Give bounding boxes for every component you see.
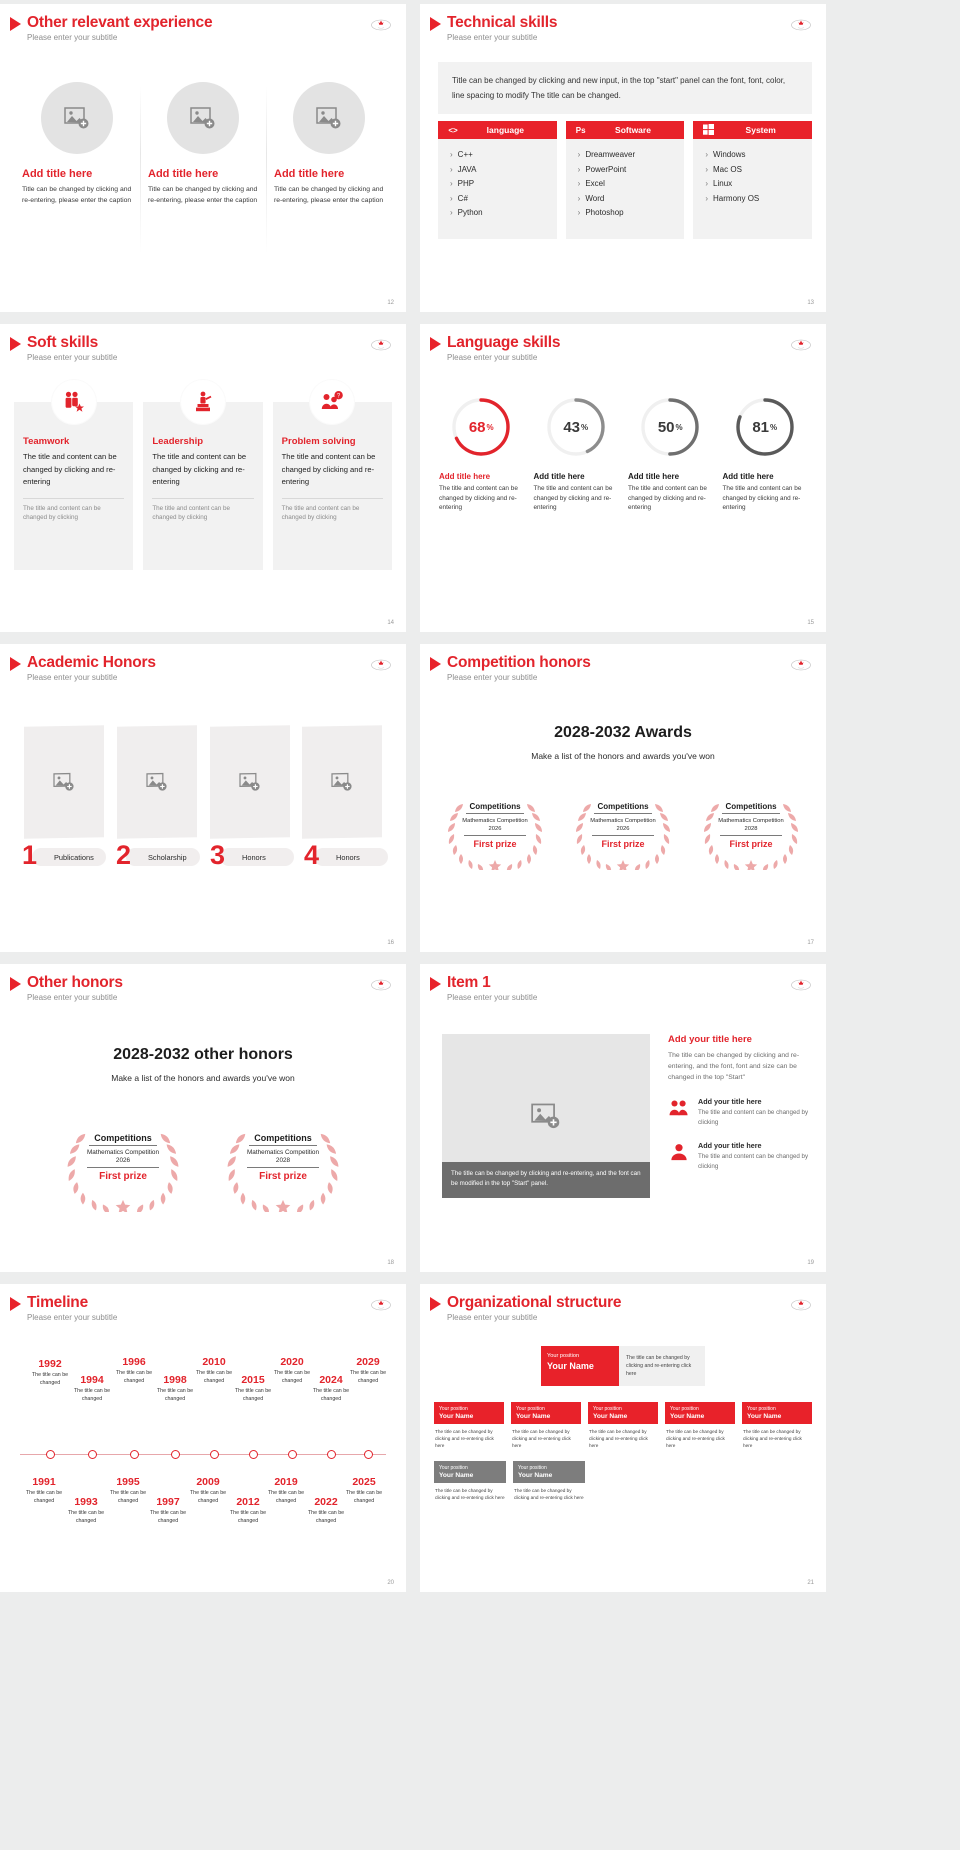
detail-item-title: Add your title here [698,1097,812,1106]
card-title: Problem solving [282,436,383,447]
org-node[interactable]: Your position Your Name The title can be… [665,1402,735,1449]
timeline-year: 1992 [28,1358,72,1370]
page-subtitle: Please enter your subtitle [27,1313,117,1322]
users-icon [668,1097,690,1119]
page-subtitle: Please enter your subtitle [447,353,560,362]
awards-subtitle: Make a list of the honors and awards you… [420,751,826,761]
card-title: Leadership [152,436,253,447]
slide-grid: Other relevant experience Please enter y… [0,0,960,1592]
awards-heading: 2028-2032 Awards Make a list of the hono… [420,724,826,761]
add-image-icon [146,772,168,792]
org-node-header: Your position Your Name [588,1402,658,1424]
org-name: Your Name [547,1361,613,1371]
page-title: Other honors [27,974,123,991]
wreath-row: Competitions Mathematics Competition 202… [12,1124,394,1212]
image-placeholder[interactable] [24,725,104,838]
page-number: 21 [807,1580,814,1586]
skill-columns: <> language C++ JAVA PHP C# Python Ps So… [438,121,812,239]
timeline-text: The title can be changed [226,1510,270,1525]
page-number: 20 [387,1580,394,1586]
ring-title: Add title here [628,472,713,481]
page-title: Academic Honors [27,654,156,671]
experience-column[interactable]: Add title here Title can be changed by c… [266,82,392,206]
brand-logo-icon [790,978,812,992]
wreath-row: Competitions Mathematics Competition 202… [432,796,814,870]
page-subtitle: Please enter your subtitle [447,673,591,682]
org-position: Your position [439,1406,499,1412]
image-placeholder[interactable] [167,82,239,154]
image-caption: The title can be changed by clicking and… [442,1162,650,1198]
skill-column-system[interactable]: System Windows Mac OS Linux Harmony OS . [693,121,812,239]
slide-header: Timeline Please enter your subtitle [10,1294,117,1322]
column-body: Title can be changed by clicking and re-… [22,184,132,206]
timeline-event-top[interactable]: 2010 The title can be changed [192,1356,236,1385]
org-node-text: The title can be changed by clicking and… [434,1487,506,1501]
timeline-text: The title can be changed [186,1490,230,1505]
timeline-year: 2029 [346,1356,390,1368]
skill-column-header: Ps Software [566,121,685,139]
org-position: Your position [747,1406,807,1412]
timeline-event-bottom[interactable]: 2025 The title can be changed [342,1476,386,1505]
image-placeholder[interactable] [41,82,113,154]
timeline-year: 2020 [270,1356,314,1368]
slide-header: Competition honors Please enter your sub… [430,654,591,682]
org-node[interactable]: Your position Your Name The title can be… [742,1402,812,1449]
timeline-text: The title can be changed [264,1490,308,1505]
org-position: Your position [439,1465,501,1471]
list-item: Python [450,206,557,221]
slide-other-relevant-experience[interactable]: Other relevant experience Please enter y… [0,4,406,312]
timeline-text: The title can be changed [232,1388,274,1403]
org-node-text: The title can be changed by clicking and… [513,1487,585,1501]
org-row-1: Your position Your Name The title can be… [434,1402,812,1449]
awards-heading: 2028-2032 other honors Make a list of th… [0,1046,406,1083]
column-title: Add title here [148,168,258,180]
skill-column-label: Software [596,125,685,135]
timeline-text: The title can be changed [154,1388,196,1403]
divider [23,498,124,499]
slide-other-honors[interactable]: Other honors Please enter your subtitle … [0,964,406,1272]
timeline-event-top[interactable]: 1998 The title can be changed [154,1374,196,1403]
wreath-card[interactable]: Competitions Mathematics Competition 202… [695,796,807,870]
list-item: PowerPoint [578,163,685,178]
detail-title: Add your title here [668,1034,812,1045]
org-position: Your position [670,1406,730,1412]
timeline-node[interactable] [364,1450,373,1459]
timeline: 1992 The title can be changed 1994 The t… [14,1346,392,1570]
list-item: Mac OS [705,163,812,178]
counter-number: 3 [210,838,225,872]
detail-body: The title can be changed by clicking and… [668,1050,812,1083]
org-position: Your position [593,1406,653,1412]
timeline-text: The title can be changed [270,1370,314,1385]
timeline-node[interactable] [88,1450,97,1459]
list-item: C++ [450,148,557,163]
detail-item-body: The title and content can be changed by … [698,1152,812,1171]
page-subtitle: Please enter your subtitle [27,33,212,42]
slide-technical-skills[interactable]: Technical skills Please enter your subti… [420,4,826,312]
progress-ring-item[interactable]: 81% Add title here The title and content… [718,396,813,513]
org-name: Your Name [439,1413,499,1420]
org-position: Your position [516,1406,576,1412]
donut-chart: 81% [734,396,796,458]
honor-counters: Publications 1 Scholarship 2 Honors 3 Ho… [18,844,388,870]
column-body: Title can be changed by clicking and re-… [148,184,258,206]
counter-label: Publications [32,848,106,866]
detail-item-title: Add your title here [698,1141,812,1150]
timeline-year: 2015 [232,1374,274,1386]
donut-chart: 43% [545,396,607,458]
timeline-year: 1994 [70,1374,114,1386]
soft-skill-card[interactable]: ? Problem solving The title and content … [273,402,392,570]
org-name: Your Name [670,1413,730,1420]
org-node-text: The title can be changed by clicking and… [588,1428,658,1449]
honor-counter[interactable]: Scholarship 2 [112,844,200,870]
brand-logo-icon [370,18,392,32]
skill-column-label: System [723,125,812,135]
timeline-year: 1991 [22,1476,66,1488]
org-node-header: Your position Your Name [513,1461,585,1483]
org-node-text: The title can be changed by clicking and… [742,1428,812,1449]
timeline-year: 2019 [264,1476,308,1488]
brand-logo-icon [370,658,392,672]
skill-column-language[interactable]: <> language C++ JAVA PHP C# Python [438,121,557,239]
list-item: JAVA [450,163,557,178]
page-number: 14 [387,620,394,626]
ring-title: Add title here [534,472,619,481]
laurel-wreath-icon [695,796,807,870]
list-item: C# [450,192,557,207]
triangle-bullet-icon [430,657,441,671]
add-image-icon [316,106,342,130]
org-position: Your position [518,1465,580,1471]
timeline-year: 2010 [192,1356,236,1368]
add-image-icon [531,1102,561,1130]
slide-timeline[interactable]: Timeline Please enter your subtitle 1992… [0,1284,406,1592]
laurel-wreath-icon [57,1124,189,1212]
wreath-card[interactable]: Competitions Mathematics Competition 202… [439,796,551,870]
experience-column[interactable]: Add title here Title can be changed by c… [14,82,140,206]
ring-title: Add title here [439,472,524,481]
slide-header: Academic Honors Please enter your subtit… [10,654,156,682]
experience-columns: Add title here Title can be changed by c… [14,82,392,206]
soft-skill-card[interactable]: Teamwork The title and content can be ch… [14,402,133,570]
honor-counter[interactable]: Honors 3 [206,844,294,870]
org-name: Your Name [518,1472,580,1479]
timeline-node[interactable] [171,1450,180,1459]
timeline-text: The title can be changed [64,1510,108,1525]
card-body: The title and content can be changed by … [282,451,383,489]
slide-header: Other honors Please enter your subtitle [10,974,123,1002]
org-node[interactable]: Your position Your Name The title can be… [434,1402,504,1449]
page-subtitle: Please enter your subtitle [447,1313,621,1322]
slide-academic-honors[interactable]: Academic Honors Please enter your subtit… [0,644,406,952]
honor-images [24,726,382,838]
teamwork-icon [52,380,96,424]
timeline-event-bottom[interactable]: 1995 The title can be changed [106,1476,150,1505]
honor-counter[interactable]: Honors 4 [300,844,388,870]
ring-body: The title and content can be changed by … [723,484,808,513]
ring-body: The title and content can be changed by … [628,484,713,513]
timeline-event-top[interactable]: 2015 The title can be changed [232,1374,274,1403]
image-placeholder[interactable] [210,725,290,838]
page-title: Item 1 [447,974,537,991]
slide-header: Language skills Please enter your subtit… [430,334,560,362]
page-subtitle: Please enter your subtitle [27,353,117,362]
list-item: Dreamweaver [578,148,685,163]
timeline-text: The title can be changed [70,1388,114,1403]
page-number: 17 [807,940,814,946]
page-number: 15 [807,620,814,626]
list-item: Harmony OS [705,192,812,207]
timeline-event-top[interactable]: 2029 The title can be changed [346,1356,390,1385]
org-node-text: The title can be changed by clicking and… [665,1428,735,1449]
triangle-bullet-icon [430,1297,441,1311]
list-item: PHP [450,177,557,192]
image-placeholder[interactable] [293,82,365,154]
progress-ring-item[interactable]: 68% Add title here The title and content… [434,396,529,513]
soft-skill-cards: Teamwork The title and content can be ch… [14,402,392,570]
timeline-event-top[interactable]: 1994 The title can be changed [70,1374,114,1403]
counter-number: 1 [22,838,37,872]
org-node-header: Your position Your Name [511,1402,581,1424]
card-footer: The title and content can be changed by … [23,504,124,523]
timeline-text: The title can be changed [310,1388,352,1403]
page-subtitle: Please enter your subtitle [27,993,123,1002]
ring-value: 68% [450,396,512,458]
slide-competition-honors[interactable]: Competition honors Please enter your sub… [420,644,826,952]
brand-logo-icon [370,1298,392,1312]
wreath-card[interactable]: Competitions Mathematics Competition 202… [217,1124,349,1212]
page-title: Soft skills [27,334,117,351]
add-image-icon [53,772,75,792]
detail-item[interactable]: Add your title here The title and conten… [668,1141,812,1171]
page-title: Timeline [27,1294,117,1311]
page-title: Organizational structure [447,1294,621,1311]
timeline-event-bottom[interactable]: 1997 The title can be changed [146,1496,190,1525]
item-details: Add your title here The title can be cha… [668,1034,812,1171]
org-node[interactable]: Your position Your Name The title can be… [511,1402,581,1449]
timeline-text: The title can be changed [22,1490,66,1505]
timeline-year: 2025 [342,1476,386,1488]
image-placeholder[interactable] [302,725,382,838]
timeline-text: The title can be changed [28,1372,72,1387]
detail-item[interactable]: Add your title here The title and conten… [668,1097,812,1127]
brand-logo-icon [790,18,812,32]
card-footer: The title and content can be changed by … [152,504,253,523]
org-root-row: Your position Your Name The title can be… [434,1346,812,1386]
slide-language-skills[interactable]: Language skills Please enter your subtit… [420,324,826,632]
photoshop-icon: Ps [566,126,596,135]
timeline-text: The title can be changed [146,1510,190,1525]
donut-chart: 50% [639,396,701,458]
page-number: 12 [387,300,394,306]
card-footer: The title and content can be changed by … [282,504,383,523]
list-item: Windows [705,148,812,163]
page-subtitle: Please enter your subtitle [27,673,156,682]
slide-item-1[interactable]: Item 1 Please enter your subtitle The ti… [420,964,826,1272]
ring-body: The title and content can be changed by … [439,484,524,513]
add-image-icon [238,772,260,792]
page-number: 16 [387,940,394,946]
code-icon: <> [438,126,468,135]
org-name: Your Name [593,1413,653,1420]
list-item: Linux [705,177,812,192]
timeline-year: 1997 [146,1496,190,1508]
list-item: Excel [578,177,685,192]
add-image-icon [190,106,216,130]
progress-ring-item[interactable]: 43% Add title here The title and content… [529,396,624,513]
page-number: 19 [807,1260,814,1266]
org-name: Your Name [747,1413,807,1420]
counter-label: Honors [314,848,388,866]
page-number: 18 [387,1260,394,1266]
org-root-node[interactable]: Your position Your Name [541,1346,619,1386]
skill-list: Windows Mac OS Linux Harmony OS . [693,139,812,239]
org-root-description: The title can be changed by clicking and… [619,1346,705,1386]
skill-column-software[interactable]: Ps Software Dreamweaver PowerPoint Excel… [566,121,685,239]
brand-logo-icon [370,338,392,352]
page-subtitle: Please enter your subtitle [447,33,557,42]
divider [152,498,253,499]
timeline-year: 1996 [112,1356,156,1368]
triangle-bullet-icon [430,17,441,31]
brand-logo-icon [790,338,812,352]
org-node-text: The title can be changed by clicking and… [511,1428,581,1449]
skill-list: C++ JAVA PHP C# Python [438,139,557,239]
detail-item-body: The title and content can be changed by … [698,1108,812,1127]
skill-column-header: <> language [438,121,557,139]
page-title: Other relevant experience [27,14,212,31]
awards-title: 2028-2032 other honors [0,1046,406,1064]
leadership-icon [181,380,225,424]
slide-organizational-structure[interactable]: Organizational structure Please enter yo… [420,1284,826,1592]
progress-ring-item[interactable]: 50% Add title here The title and content… [623,396,718,513]
skill-list: Dreamweaver PowerPoint Excel Word Photos… [566,139,685,239]
slide-header: Soft skills Please enter your subtitle [10,334,117,362]
org-node[interactable]: Your position Your Name The title can be… [588,1402,658,1449]
timeline-event-top[interactable]: 2020 The title can be changed [270,1356,314,1385]
windows-icon [693,124,723,137]
soft-skill-card[interactable]: Leadership The title and content can be … [143,402,262,570]
timeline-year: 2009 [186,1476,230,1488]
slide-header: Other relevant experience Please enter y… [10,14,212,42]
skill-column-label: language [468,125,557,135]
org-chart: Your position Your Name The title can be… [434,1346,812,1501]
triangle-bullet-icon [10,1297,21,1311]
timeline-node[interactable] [210,1450,219,1459]
slide-header: Technical skills Please enter your subti… [430,14,557,42]
timeline-node[interactable] [46,1450,55,1459]
ring-value: 43% [545,396,607,458]
list-item: Word [578,192,685,207]
wreath-card[interactable]: Competitions Mathematics Competition 202… [567,796,679,870]
slide-header: Item 1 Please enter your subtitle [430,974,537,1002]
triangle-bullet-icon [10,657,21,671]
column-body: Title can be changed by clicking and re-… [274,184,384,206]
timeline-text: The title can be changed [112,1370,156,1385]
list-item: Photoshop [578,206,685,221]
org-row-2: Your position Your Name The title can be… [434,1461,812,1501]
laurel-wreath-icon [217,1124,349,1212]
awards-title: 2028-2032 Awards [420,724,826,742]
counter-label: Honors [220,848,294,866]
triangle-bullet-icon [10,977,21,991]
honor-counter[interactable]: Publications 1 [18,844,106,870]
counter-number: 2 [116,838,131,872]
timeline-year: 1995 [106,1476,150,1488]
timeline-year: 1993 [64,1496,108,1508]
timeline-text: The title can be changed [304,1510,348,1525]
brand-logo-icon [790,1298,812,1312]
wreath-card[interactable]: Competitions Mathematics Competition 202… [57,1124,189,1212]
timeline-event-top[interactable]: 1992 The title can be changed [28,1358,72,1387]
timeline-text: The title can be changed [106,1490,150,1505]
timeline-node[interactable] [249,1450,258,1459]
card-title: Teamwork [23,436,124,447]
timeline-node[interactable] [130,1450,139,1459]
timeline-text: The title can be changed [346,1370,390,1385]
triangle-bullet-icon [430,977,441,991]
timeline-node[interactable] [327,1450,336,1459]
triangle-bullet-icon [10,337,21,351]
column-title: Add title here [22,168,132,180]
page-subtitle: Please enter your subtitle [447,993,537,1002]
card-body: The title and content can be changed by … [152,451,253,489]
slide-soft-skills[interactable]: Soft skills Please enter your subtitle T… [0,324,406,632]
brand-logo-icon [790,658,812,672]
org-node-text: The title can be changed by clicking and… [434,1428,504,1449]
timeline-text: The title can be changed [192,1370,236,1385]
ring-body: The title and content can be changed by … [534,484,619,513]
divider [282,498,383,499]
donut-chart: 68% [450,396,512,458]
timeline-event-bottom[interactable]: 1993 The title can be changed [64,1496,108,1525]
description-note: Title can be changed by clicking and new… [438,62,812,114]
org-name: Your Name [516,1413,576,1420]
laurel-wreath-icon [439,796,551,870]
org-node[interactable]: Your position Your Name The title can be… [434,1461,506,1501]
counter-label: Scholarship [126,848,200,866]
image-placeholder[interactable] [117,725,197,838]
timeline-event-bottom[interactable]: 2009 The title can be changed [186,1476,230,1505]
timeline-year: 1998 [154,1374,196,1386]
page-title: Competition honors [447,654,591,671]
ring-value: 50% [639,396,701,458]
org-node-header: Your position Your Name [434,1461,506,1483]
add-image-icon [331,772,353,792]
ring-value: 81% [734,396,796,458]
timeline-event-top[interactable]: 1996 The title can be changed [112,1356,156,1385]
org-position: Your position [547,1353,613,1359]
timeline-event-bottom[interactable]: 2019 The title can be changed [264,1476,308,1505]
org-node[interactable]: Your position Your Name The title can be… [513,1461,585,1501]
experience-column[interactable]: Add title here Title can be changed by c… [140,82,266,206]
timeline-text: The title can be changed [342,1490,386,1505]
counter-number: 4 [304,838,319,872]
org-name: Your Name [439,1472,501,1479]
column-title: Add title here [274,168,384,180]
ring-title: Add title here [723,472,808,481]
timeline-event-bottom[interactable]: 1991 The title can be changed [22,1476,66,1505]
page-number: 13 [807,300,814,306]
laurel-wreath-icon [567,796,679,870]
progress-rings: 68% Add title here The title and content… [434,396,812,513]
triangle-bullet-icon [10,17,21,31]
user-icon [668,1141,690,1163]
org-node-header: Your position Your Name [742,1402,812,1424]
timeline-node[interactable] [288,1450,297,1459]
